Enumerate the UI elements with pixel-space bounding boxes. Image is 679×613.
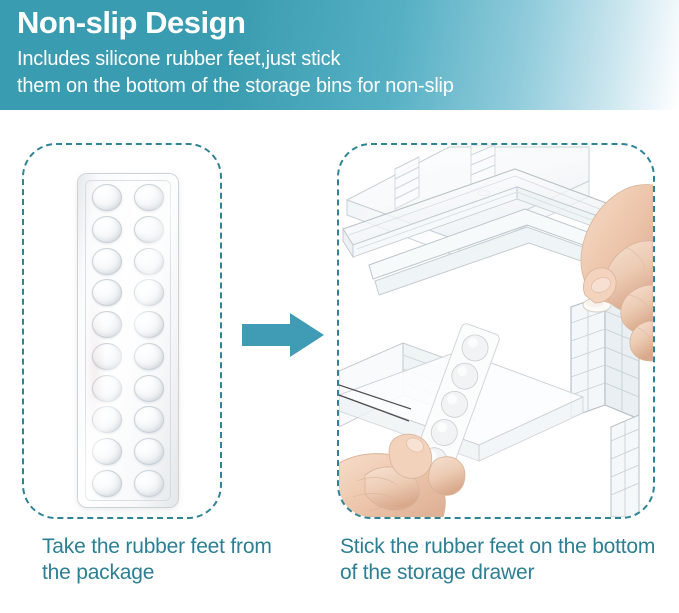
step-arrow-icon bbox=[242, 313, 324, 357]
silicone-bumper bbox=[92, 311, 122, 338]
silicone-bumper bbox=[134, 311, 164, 338]
bumper-grid bbox=[85, 180, 171, 501]
header-subtitle-line-2: them on the bottom of the storage bins f… bbox=[17, 73, 454, 100]
bumper-cell bbox=[86, 341, 128, 373]
silicone-bumper bbox=[134, 216, 164, 243]
silicone-bumper bbox=[92, 406, 122, 433]
silicone-bumper bbox=[134, 438, 164, 465]
bumper-cell bbox=[86, 277, 128, 309]
bumper-cell bbox=[86, 245, 128, 277]
silicone-bumper bbox=[92, 184, 122, 211]
bumper-cell bbox=[86, 214, 128, 246]
bumper-cell bbox=[128, 277, 170, 309]
bumper-cell bbox=[128, 341, 170, 373]
right-step-panel-border bbox=[337, 143, 655, 519]
silicone-bumper bbox=[92, 279, 122, 306]
bumper-cell bbox=[128, 245, 170, 277]
bumper-cell bbox=[128, 309, 170, 341]
silicone-bumper bbox=[92, 216, 122, 243]
silicone-bumper bbox=[92, 343, 122, 370]
infographic-page: Non-slip Design Includes silicone rubber… bbox=[0, 0, 679, 613]
bumper-cell bbox=[86, 404, 128, 436]
silicone-bumper bbox=[134, 343, 164, 370]
bumper-cell bbox=[86, 182, 128, 214]
page-title: Non-slip Design bbox=[17, 4, 245, 42]
bumper-cell bbox=[86, 467, 128, 499]
silicone-bumper bbox=[92, 375, 122, 402]
bumper-cell bbox=[86, 436, 128, 468]
bumper-cell bbox=[128, 436, 170, 468]
silicone-bumper bbox=[134, 248, 164, 275]
header-subtitle-line-1: Includes silicone rubber feet,just stick bbox=[17, 46, 340, 73]
silicone-bumper bbox=[134, 470, 164, 497]
bumper-cell bbox=[128, 182, 170, 214]
bumper-cell bbox=[128, 404, 170, 436]
bumper-cell bbox=[128, 214, 170, 246]
silicone-bumper bbox=[134, 375, 164, 402]
header-banner: Non-slip Design Includes silicone rubber… bbox=[0, 0, 679, 110]
silicone-bumper bbox=[134, 279, 164, 306]
bumper-cell bbox=[128, 372, 170, 404]
right-step-caption: Stick the rubber feet on the bottom of t… bbox=[340, 534, 660, 586]
left-step-caption: Take the rubber feet from the package bbox=[42, 534, 272, 586]
rubber-feet-blister-pack bbox=[78, 174, 178, 507]
bumper-cell bbox=[86, 372, 128, 404]
silicone-bumper bbox=[134, 406, 164, 433]
silicone-bumper bbox=[92, 470, 122, 497]
silicone-bumper bbox=[92, 438, 122, 465]
bumper-cell bbox=[86, 309, 128, 341]
silicone-bumper bbox=[92, 248, 122, 275]
bumper-cell bbox=[128, 467, 170, 499]
silicone-bumper bbox=[134, 184, 164, 211]
